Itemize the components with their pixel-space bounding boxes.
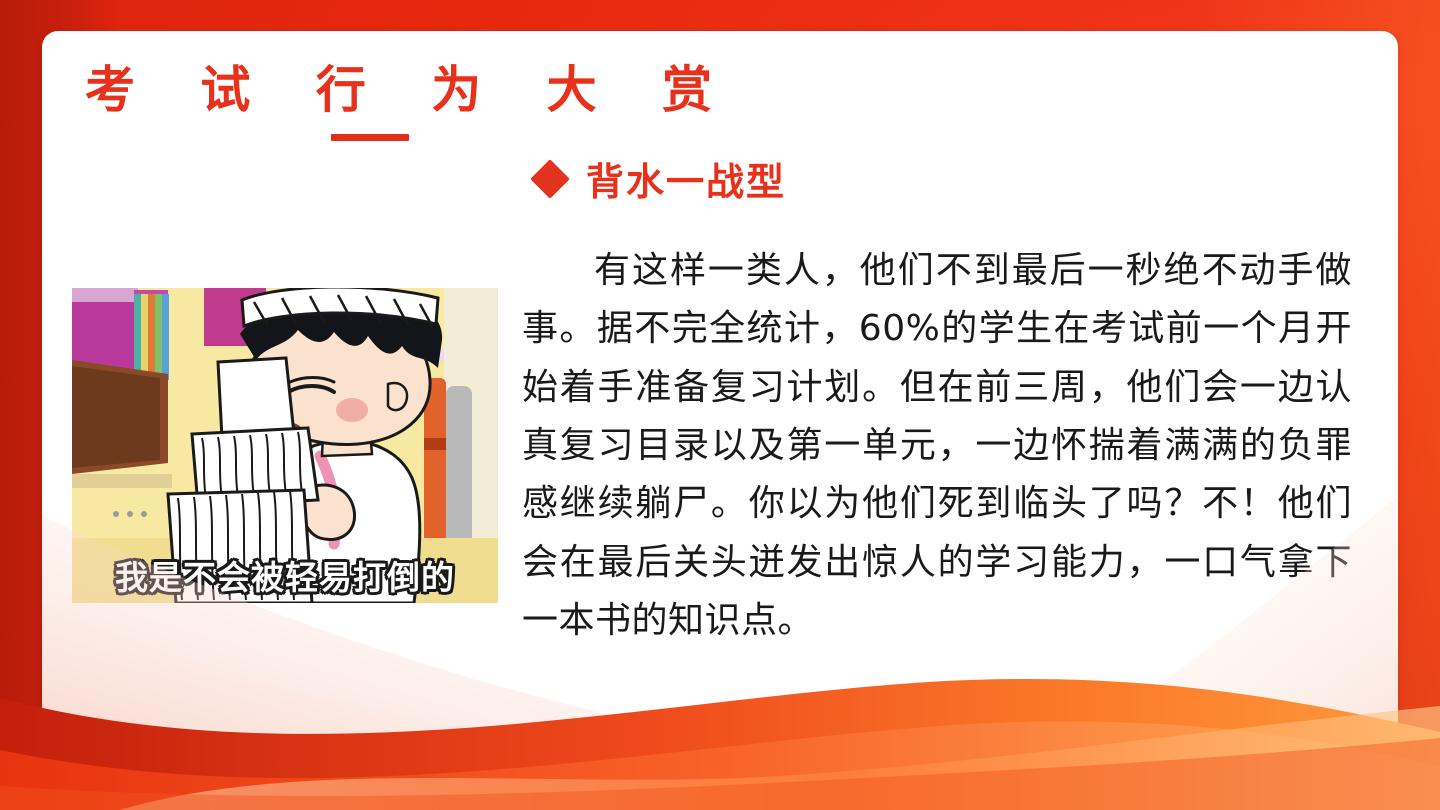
page-title-block: 考 试 行 为 大 赏	[85, 65, 736, 115]
section-paragraph: 有这样一类人，他们不到最后一秒绝不动手做事。据不完全统计，60%的学生在考试前一…	[522, 242, 1352, 650]
illustration-caption: 我是不会被轻易打倒的	[72, 551, 498, 599]
diamond-bullet-icon	[530, 159, 570, 199]
slide-canvas: 考 试 行 为 大 赏	[0, 0, 1440, 810]
section-heading: 背水一战型	[586, 151, 786, 206]
page-title: 考 试 行 为 大 赏	[85, 65, 736, 115]
illustration-image: 我是不会被轻易打倒的	[72, 288, 498, 603]
title-underline-bar	[331, 134, 409, 141]
section-heading-row: 背水一战型	[536, 151, 1352, 206]
content-column: 背水一战型 有这样一类人，他们不到最后一秒绝不动手做事。据不完全统计，60%的学…	[522, 151, 1352, 650]
content-card: 考 试 行 为 大 赏	[42, 31, 1398, 776]
